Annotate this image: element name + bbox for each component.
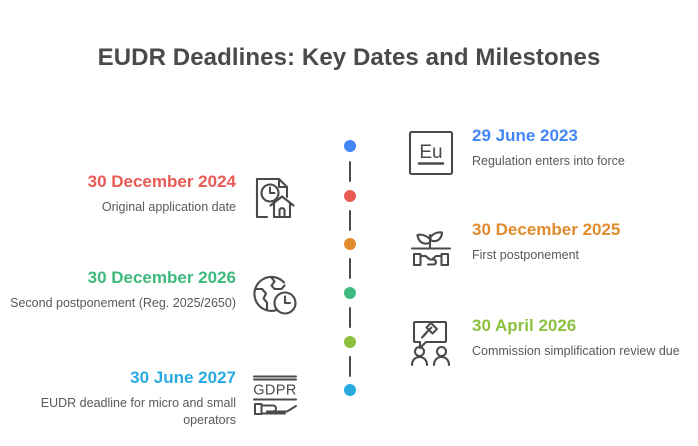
timeline-dash-2 [349,258,351,279]
milestone-description: First postponement [472,247,579,264]
milestone-date: 30 April 2026 [472,316,576,336]
milestone-commission-review: 30 April 2026 Commission simplification … [404,316,680,370]
milestone-description: Second postponement (Reg. 2025/2650) [10,295,236,312]
milestone-date: 30 June 2027 [130,368,236,388]
globe-clock-icon [248,268,302,322]
dot-2026-04-30 [344,336,356,348]
milestone-date: 30 December 2026 [88,268,236,288]
page-title: EUDR Deadlines: Key Dates and Milestones [0,44,698,72]
milestone-text: 30 December 2024 Original application da… [88,172,236,216]
timeline-dash-0 [349,161,351,182]
timeline-dash-3 [349,307,351,328]
timeline-dash-1 [349,210,351,231]
milestone-description: EUDR deadline for micro and small operat… [0,395,236,429]
milestone-original-application-date: 30 December 2024 Original application da… [88,172,302,226]
milestone-description: Regulation enters into force [472,153,625,170]
milestone-text: 30 December 2025 First postponement [472,220,620,264]
milestone-text: 30 June 2027 EUDR deadline for micro and… [0,368,236,429]
milestone-eu-regulation-in-force: Eu 29 June 2023 Regulation enters into f… [404,126,625,180]
milestone-first-postponement: 30 December 2025 First postponement [404,220,620,274]
eudr-timeline-infographic: EUDR Deadlines: Key Dates and Milestones… [0,0,698,446]
milestone-micro-small-operators-deadline: 30 June 2027 EUDR deadline for micro and… [0,368,302,429]
gdpr-hand-icon: GDPR [248,368,302,422]
milestone-text: 29 June 2023 Regulation enters into forc… [472,126,625,170]
svg-text:GDPR: GDPR [253,383,297,399]
milestone-date: 29 June 2023 [472,126,578,146]
sprout-hands-icon [404,220,458,274]
svg-text:Eu: Eu [419,142,442,163]
dot-2023-06-29 [344,140,356,152]
timeline-dash-4 [349,356,351,377]
milestone-second-postponement: 30 December 2026 Second postponement (Re… [10,268,302,322]
dot-2027-06-30 [344,384,356,396]
dot-2025-12-30 [344,238,356,250]
eu-symbol-icon: Eu [404,126,458,180]
milestone-description: Commission simplification review due [472,343,680,360]
document-clock-house-icon [248,172,302,226]
dot-2024-12-30 [344,190,356,202]
milestone-date: 30 December 2024 [88,172,236,192]
milestone-text: 30 April 2026 Commission simplification … [472,316,680,360]
milestone-text: 30 December 2026 Second postponement (Re… [10,268,236,312]
milestone-description: Original application date [102,199,236,216]
milestone-date: 30 December 2025 [472,220,620,240]
gavel-people-icon [404,316,458,370]
timeline-axis [349,140,351,396]
dot-2026-12-30 [344,287,356,299]
